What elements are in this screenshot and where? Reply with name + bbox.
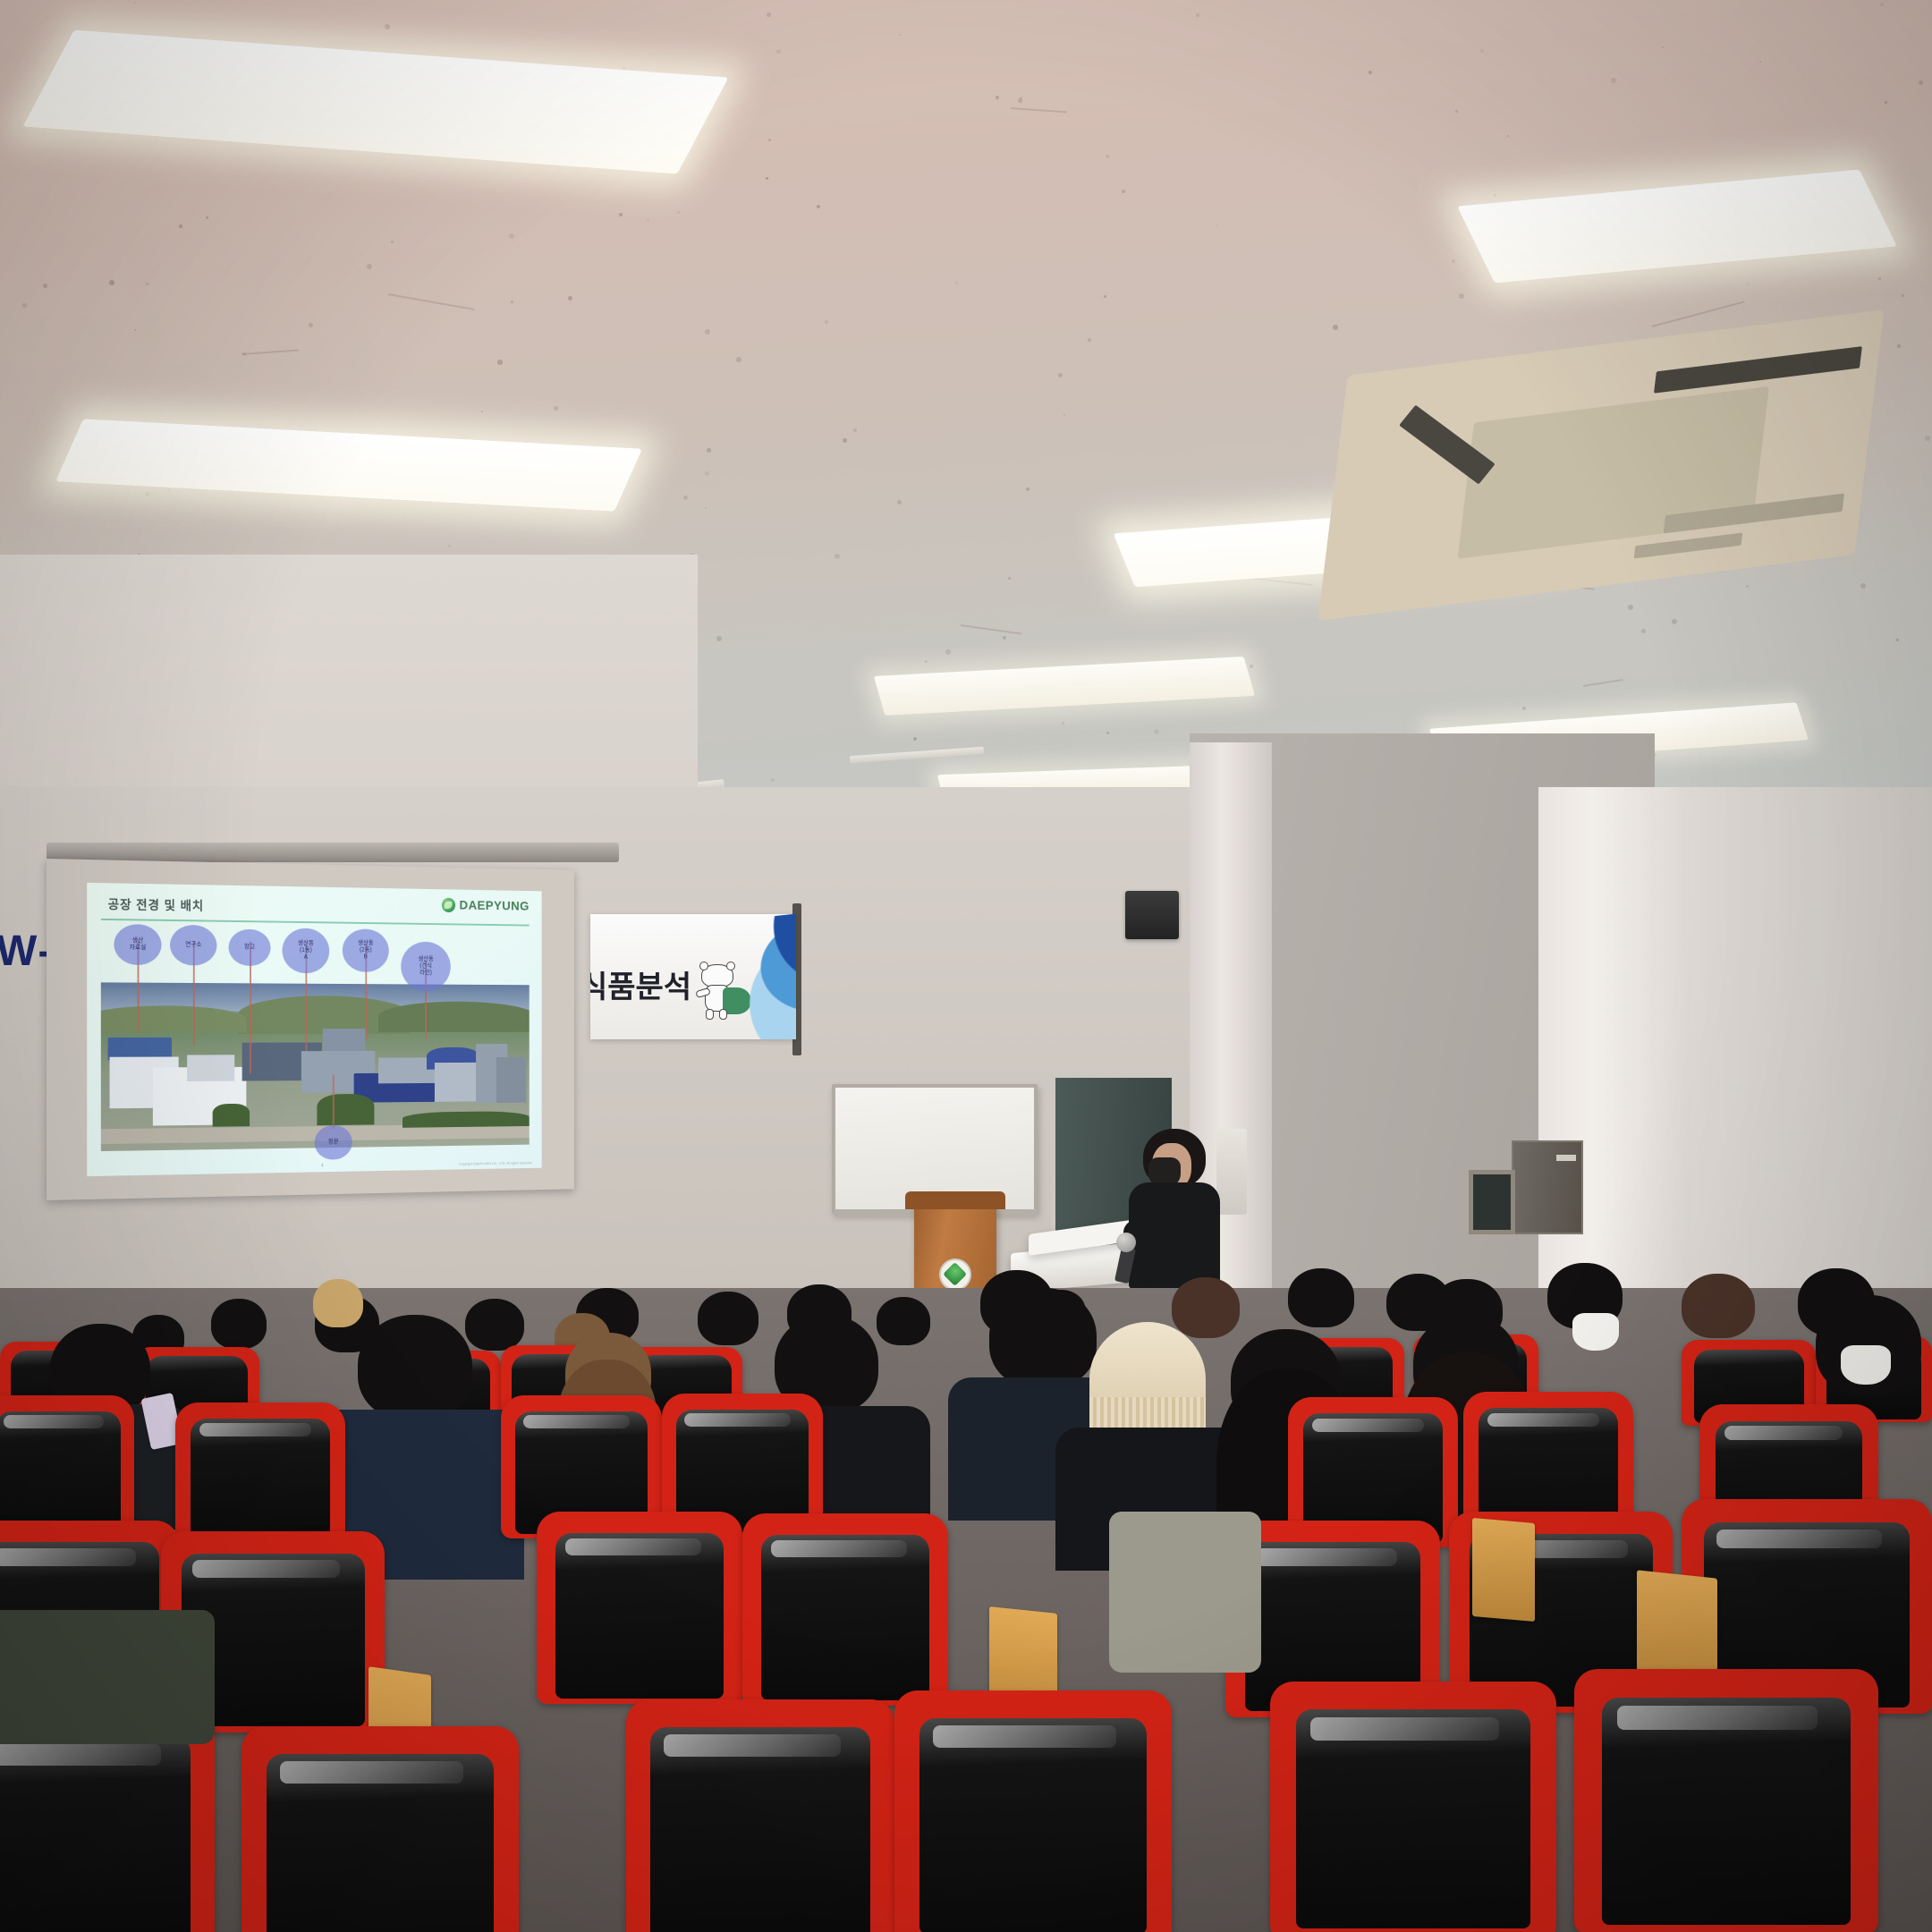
company-name: DAEPYUNG (459, 898, 529, 913)
auditorium-seat[interactable] (894, 1690, 1172, 1932)
audience-head (1288, 1268, 1354, 1327)
auditorium-seat[interactable] (241, 1726, 519, 1932)
podium-emblem (939, 1258, 971, 1291)
audience-head (989, 1288, 1097, 1388)
audience-head (465, 1299, 524, 1351)
callout-leader (333, 1075, 335, 1129)
backpack (1109, 1512, 1261, 1673)
projection-screen: 공장 전경 및 배치 DAEPYUNG (47, 859, 574, 1200)
factory-building (187, 1055, 234, 1081)
banner-title: 식품분석 (590, 962, 691, 1006)
podium-top (905, 1191, 1005, 1209)
globe-leaf-icon (442, 898, 455, 912)
factory-aerial-photo (101, 982, 530, 1151)
auditorium-seat[interactable] (1574, 1669, 1878, 1932)
slide-footer: Copyright DAEPYUNG CO., LTD. All rights … (459, 1160, 532, 1165)
callout-label: 생산 자료실 (130, 937, 147, 953)
callout-label: 창고 (244, 944, 255, 951)
company-logo: DAEPYUNG (442, 898, 530, 914)
screen-roller-case (47, 843, 619, 862)
callout-label: 정문 (328, 1139, 339, 1146)
student-with-beanie (1089, 1322, 1206, 1436)
wall-banner: 식품분석 (590, 914, 796, 1039)
slide-page-number: 4 (321, 1164, 324, 1169)
callout-bubble: 생산동 (2동) B (343, 928, 389, 972)
auditorium-seat[interactable] (1270, 1682, 1556, 1932)
ceiling-cassette-air-conditioner (1318, 309, 1884, 621)
white-face-mask (1841, 1345, 1891, 1385)
audience-head (877, 1297, 930, 1345)
callout-bubble: 창고 (229, 929, 271, 966)
callout-bubble: 생산 자료실 (114, 924, 161, 965)
audience-head (211, 1299, 267, 1349)
audience-head (313, 1279, 363, 1327)
tree (213, 1104, 250, 1127)
fire-hose-niche (1469, 1170, 1515, 1234)
ceiling-light (874, 657, 1255, 716)
auditorium-seat[interactable] (626, 1699, 894, 1932)
presentation-slide: 공장 전경 및 배치 DAEPYUNG (87, 883, 541, 1176)
tablet-arm-desk[interactable] (1472, 1518, 1535, 1622)
callout-bubble: 정문 (315, 1125, 352, 1160)
lecture-hall-scene: W-ST 공장 전경 및 배치 DAEPYUNG (0, 0, 1932, 1932)
tree (317, 1094, 374, 1125)
callout-label: 생산동 (1동) A (298, 940, 314, 962)
hedgerow (402, 1111, 530, 1128)
audience-head (358, 1315, 472, 1420)
ceiling-light (1457, 169, 1897, 283)
panel-label (1556, 1155, 1576, 1161)
auditorium-seat[interactable] (175, 1402, 345, 1550)
banner-swoosh-graphic (712, 914, 796, 1039)
callout-label: 연구소 (185, 942, 201, 949)
callout-bubble: 생산동 (1동) A (283, 928, 330, 973)
ceiling-speaker (1125, 891, 1179, 939)
callout-label: 생산동 (2동) B (358, 940, 374, 962)
auditorium-seat[interactable] (537, 1512, 742, 1704)
auditorium-seat[interactable] (742, 1513, 948, 1706)
white-face-mask (1572, 1313, 1619, 1351)
slide-title: 공장 전경 및 배치 (108, 895, 204, 914)
jacket-on-seat (0, 1610, 215, 1744)
ceiling-light (22, 30, 728, 174)
ceiling-light (55, 419, 642, 512)
presenter (1123, 1129, 1240, 1290)
callout-label: 생산동 (건식 라인) (418, 956, 433, 978)
factory-building (496, 1057, 526, 1103)
tiger-leg (706, 1009, 714, 1020)
audience-head (1682, 1274, 1755, 1338)
auditorium-seat[interactable] (0, 1395, 134, 1538)
microphone-head (1116, 1233, 1136, 1252)
hill (101, 1005, 247, 1032)
slide-title-rule (101, 919, 530, 927)
audience-head (1172, 1277, 1240, 1338)
callout-bubble: 연구소 (170, 925, 216, 966)
callout-bubble: 생산동 (건식 라인) (401, 942, 451, 992)
ceiling-tile-strip (850, 747, 984, 763)
tiger-ear (699, 962, 708, 970)
electrical-panel (1512, 1140, 1583, 1234)
audience-head (698, 1292, 758, 1345)
projection-screen-assembly: 공장 전경 및 배치 DAEPYUNG (47, 859, 619, 1216)
hill (378, 1001, 530, 1031)
